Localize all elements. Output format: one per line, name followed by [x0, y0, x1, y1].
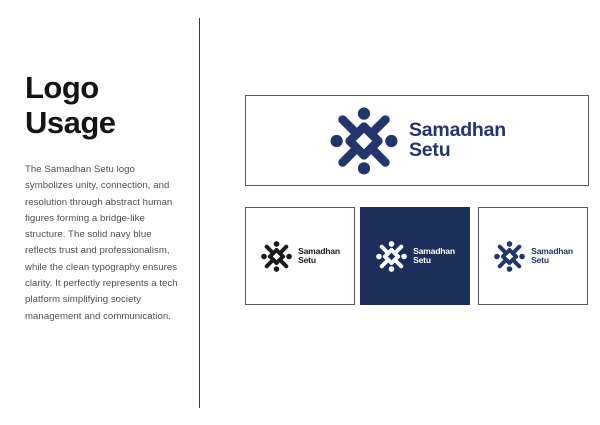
logo-wordmark: Samadhan Setu: [413, 247, 455, 265]
page-title: Logo Usage: [25, 70, 185, 140]
variant-card-inner: Samadhan Setu: [246, 240, 354, 273]
primary-logo-card: Samadhan Setu: [245, 95, 589, 186]
logo-lockup-white: Samadhan Setu: [375, 240, 455, 273]
logo-showcase-panel: Samadhan Setu: [199, 0, 600, 425]
logo-description-text: The Samadhan Setu logo symbolizes unity,…: [25, 162, 180, 325]
samadhan-setu-pinwheel-icon: [328, 105, 400, 177]
logo-lockup-navy: Samadhan Setu: [493, 240, 573, 273]
left-text-panel: Logo Usage The Samadhan Setu logo symbol…: [0, 0, 199, 425]
logo-lockup-primary: Samadhan Setu: [328, 105, 506, 177]
logo-variant-card-white-on-navy: Samadhan Setu: [360, 207, 470, 305]
variant-card-inner: Samadhan Setu: [479, 240, 587, 273]
logo-variant-card-navy-on-white: Samadhan Setu: [478, 207, 588, 305]
samadhan-setu-pinwheel-icon: [375, 240, 408, 273]
logo-wordmark: Samadhan Setu: [531, 247, 573, 265]
samadhan-setu-pinwheel-icon: [260, 240, 293, 273]
variant-card-inner: Samadhan Setu: [361, 240, 469, 273]
logo-wordmark: Samadhan Setu: [298, 247, 340, 265]
samadhan-setu-pinwheel-icon: [493, 240, 526, 273]
logo-lockup-black: Samadhan Setu: [260, 240, 340, 273]
logo-variant-card-black-on-white: Samadhan Setu: [245, 207, 355, 305]
logo-wordmark: Samadhan Setu: [409, 121, 506, 161]
